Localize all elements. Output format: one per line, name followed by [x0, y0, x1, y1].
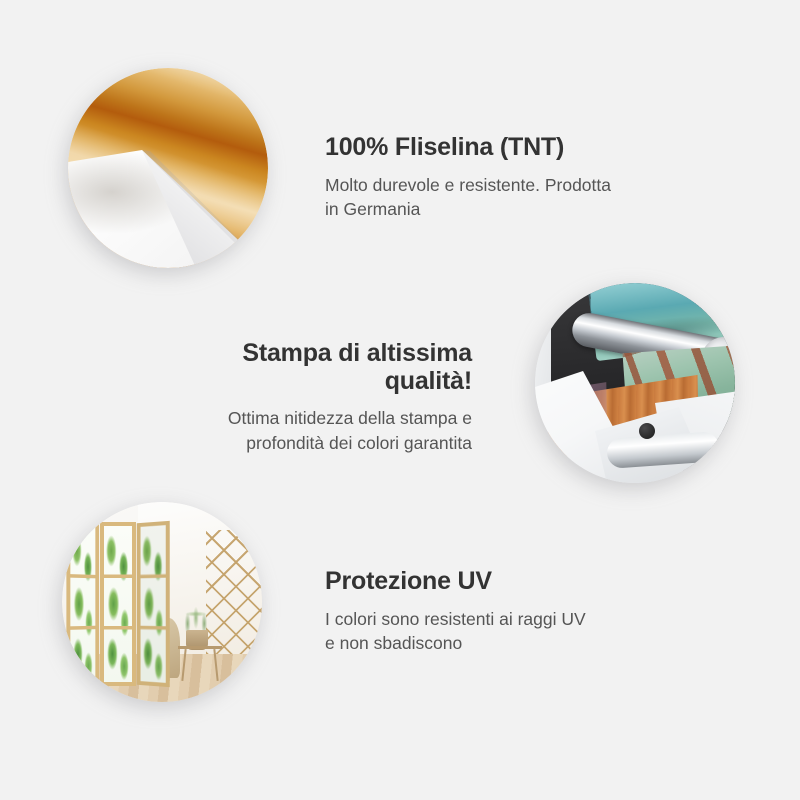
- divider-panel-1: [66, 521, 99, 688]
- folding-room-divider: [66, 522, 170, 686]
- feature-body-uv-line1: I colori sono resistenti ai raggi UV: [325, 609, 586, 629]
- feature-title-fabric: 100% Fliselina (TNT): [325, 134, 665, 162]
- feature-body-fabric-line2: in Germania: [325, 199, 420, 219]
- feature-body-uv: I colori sono resistenti ai raggi UV e n…: [325, 607, 665, 657]
- side-table: [178, 646, 222, 681]
- feature-text-print: Stampa di altissima qualità! Ottima niti…: [150, 340, 472, 456]
- press-knob-lower: [639, 423, 655, 439]
- divider-panel-3-frame: [140, 525, 166, 683]
- divider-panel-3: [136, 521, 169, 687]
- divider-panel-1-frame: [70, 525, 95, 683]
- feature-body-print-line2: profondità dei colori garantita: [246, 433, 472, 453]
- peeling-wallpaper-photo: [68, 68, 268, 268]
- feature-title-print: Stampa di altissima qualità!: [150, 340, 472, 395]
- uv-scene: [62, 502, 262, 702]
- divider-panel-2: [100, 522, 135, 686]
- feature-image-fabric: [68, 68, 268, 268]
- printing-press-photo: [535, 283, 735, 483]
- press-scene: [535, 283, 735, 483]
- tropical-room-divider-photo: [62, 502, 262, 702]
- feature-image-uv: [62, 502, 262, 702]
- feature-image-print: [535, 283, 735, 483]
- peel-scene: [68, 68, 268, 268]
- divider-panel-2-frame: [104, 526, 131, 682]
- feature-highlights-panel: 100% Fliselina (TNT) Molto durevole e re…: [0, 0, 800, 800]
- feature-body-uv-line2: e non sbadiscono: [325, 633, 462, 653]
- feature-body-print-line1: Ottima nitidezza della stampa e: [228, 408, 472, 428]
- feature-body-fabric: Molto durevole e resistente. Prodotta in…: [325, 173, 665, 223]
- feature-body-print: Ottima nitidezza della stampa e profondi…: [150, 406, 472, 456]
- feature-text-uv: Protezione UV I colori sono resistenti a…: [325, 568, 665, 656]
- feature-text-fabric: 100% Fliselina (TNT) Molto durevole e re…: [325, 134, 665, 222]
- feature-body-fabric-line1: Molto durevole e resistente. Prodotta: [325, 175, 611, 195]
- feature-title-uv: Protezione UV: [325, 568, 665, 596]
